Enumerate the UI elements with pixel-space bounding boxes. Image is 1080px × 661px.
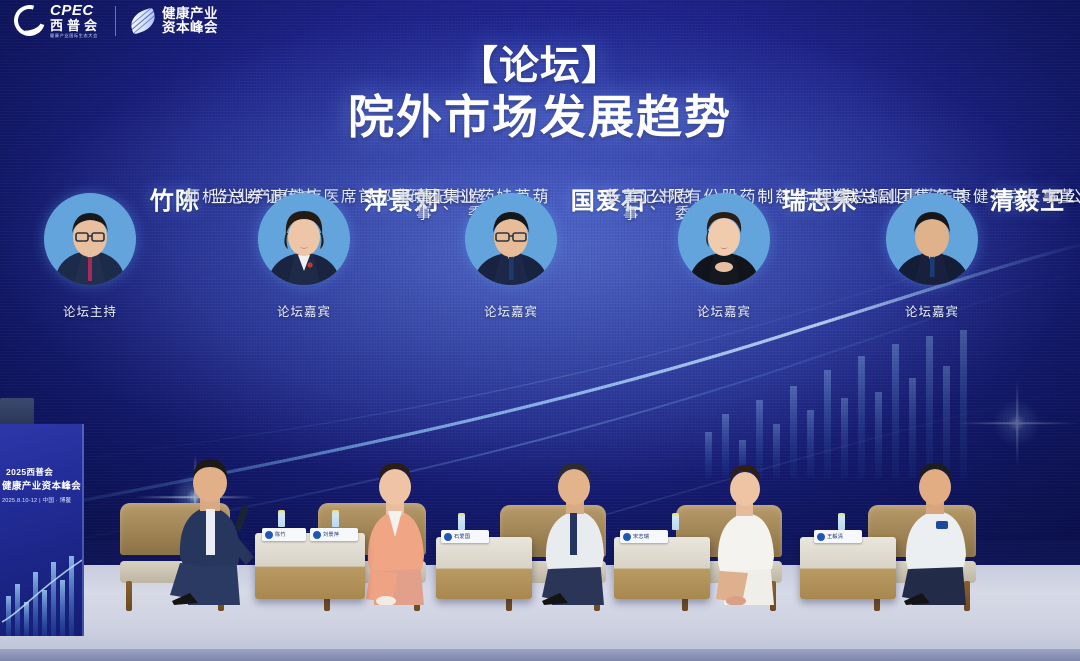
stage-foreground: 陈竹 刘景萍 石爱国 宋志瑞 王毅清 <box>0 421 1080 661</box>
placard-name-5: 王毅清 <box>827 533 843 540</box>
banner-line2: 健康产业资本峰会 <box>2 478 84 492</box>
rollup-banner: 2025西普会 健康产业资本峰会 2025.8.10-12 | 中国 · 博鳌 <box>0 424 84 636</box>
forum-title-label: 【论坛】 <box>0 44 1080 89</box>
water-bottle <box>278 510 285 527</box>
summit-logo: 健康产业 资本峰会 <box>130 7 218 35</box>
placard-logo-icon <box>313 531 321 539</box>
avatar-wrap-2: 论坛嘉宾 <box>258 193 350 285</box>
water-bottle <box>458 513 465 530</box>
avatar <box>886 193 978 285</box>
avatar <box>465 193 557 285</box>
placard-logo-icon <box>817 533 825 541</box>
placard-name-1: 陈竹 <box>275 531 286 538</box>
cpec-logo: CPEC 西普会 健康产业国际生态大会 <box>14 3 101 38</box>
placard-logo-icon <box>265 531 273 539</box>
avatar-wrap-1: 论坛主持 <box>44 193 136 285</box>
placard-logo-icon <box>444 533 452 541</box>
cpec-logo-subtitle: 健康产业国际生态大会 <box>50 34 101 38</box>
side-table-4 <box>800 537 896 599</box>
avatar-wrap-3: 论坛嘉宾 <box>465 193 557 285</box>
banner-chart-art <box>0 526 84 636</box>
panelist-org-col1-5: 湖南达嘉维康医药集团有限公司 <box>1044 188 1080 205</box>
summit-logo-line1: 健康产业 <box>162 7 218 21</box>
leaf-icon <box>128 7 159 34</box>
forum-title-block: 【论坛】 院外市场发展趋势 <box>0 44 1080 144</box>
panelist-role-4: 论坛嘉宾 <box>674 301 774 320</box>
side-table-2 <box>436 537 532 599</box>
avatar <box>258 193 350 285</box>
placard-name-4: 宋志瑞 <box>633 533 649 540</box>
cpec-ring-icon <box>9 0 51 42</box>
person-moderator <box>150 445 270 605</box>
panelist-role-5: 论坛嘉宾 <box>882 301 982 320</box>
cpec-logo-cn: 西普会 <box>50 19 101 32</box>
placard-3: 石爱国 <box>441 530 489 543</box>
side-table-1 <box>255 533 365 599</box>
cpec-logo-en: CPEC <box>50 3 101 18</box>
logo-bar: CPEC 西普会 健康产业国际生态大会 健康产业 资本峰会 <box>0 0 1080 42</box>
placard-name-2: 刘景萍 <box>323 531 339 538</box>
forum-title-main: 院外市场发展趋势 <box>0 91 1080 144</box>
avatar-wrap-4: 论坛嘉宾 <box>678 193 770 285</box>
placard-name-3: 石爱国 <box>454 533 470 540</box>
panelist-strip: 论坛主持 陈竹 研究部首席医疗健康产业分析师 中信证券 总监 <box>0 186 1080 436</box>
placard-logo-icon <box>623 533 631 541</box>
avatar <box>44 193 136 285</box>
placard-4: 宋志瑞 <box>620 530 668 543</box>
water-bottle <box>838 513 845 530</box>
placard-5: 王毅清 <box>814 530 862 543</box>
water-bottle <box>332 510 339 527</box>
placard-2: 刘景萍 <box>310 528 358 541</box>
panelist-role-1: 论坛主持 <box>40 301 140 320</box>
summit-logo-line2: 资本峰会 <box>162 21 218 35</box>
panelist-role-3: 论坛嘉宾 <box>461 301 561 320</box>
water-bottle <box>672 513 679 530</box>
side-table-3 <box>614 537 710 599</box>
stage-floor-edge <box>0 649 1080 661</box>
logo-divider <box>115 6 116 36</box>
conference-stage-screenshot: CPEC 西普会 健康产业国际生态大会 健康产业 资本峰会 【论坛】 院外市场发… <box>0 0 1080 661</box>
avatar-wrap-5: 论坛嘉宾 <box>886 193 978 285</box>
banner-line1: 2025西普会 <box>6 466 84 478</box>
avatar <box>678 193 770 285</box>
placard-1: 陈竹 <box>262 528 306 541</box>
banner-date: 2025.8.10-12 | 中国 · 博鳌 <box>2 496 84 504</box>
panelist-role-2: 论坛嘉宾 <box>254 301 354 320</box>
